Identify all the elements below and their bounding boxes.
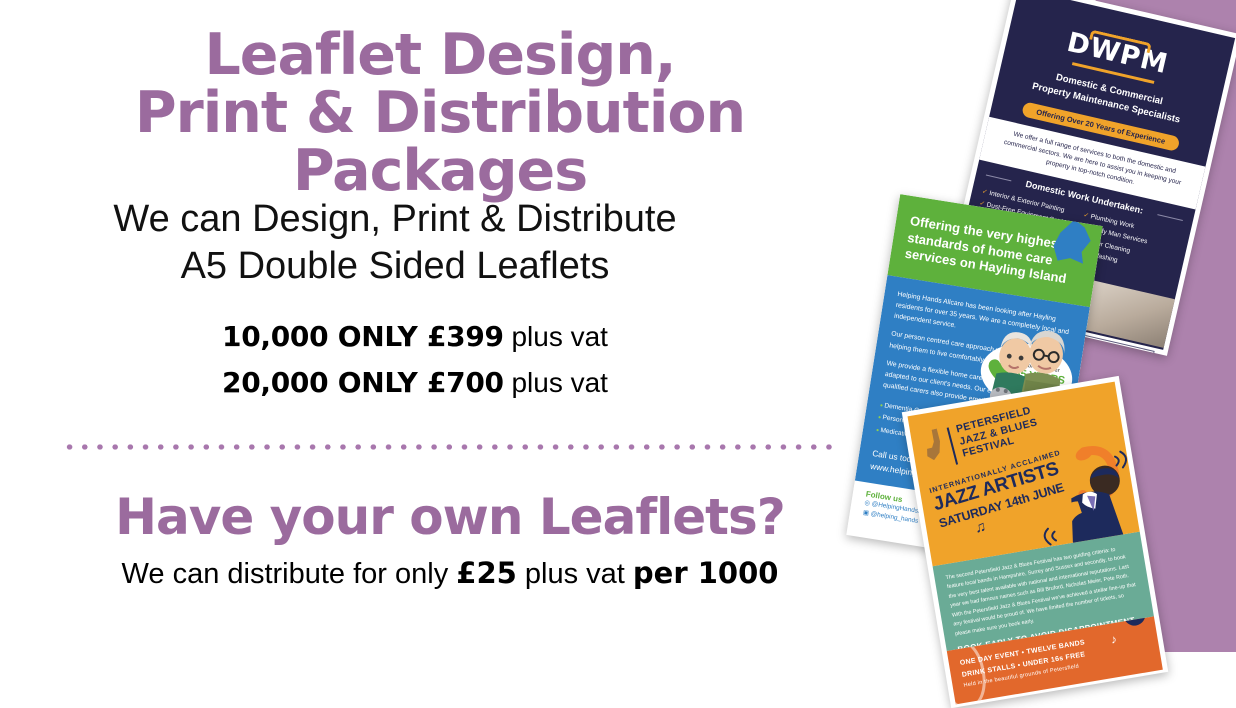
price-row-20000: 20,000 ONLY £700 plus vat	[0, 366, 830, 399]
hh-header-text: Offering the very highest standards of h…	[904, 213, 1068, 286]
title-line-1: Leaflet Design,	[204, 22, 675, 88]
saxophone-icon	[920, 428, 947, 462]
cta-per-1000: per 1000	[633, 556, 779, 590]
promo-text-column: Leaflet Design, Print & Distribution Pac…	[0, 0, 900, 652]
price-10000-vat: plus vat	[504, 321, 608, 352]
cta-price: £25	[456, 556, 517, 590]
leaflet-jazz-festival: PETERSFIELD JAZZ & BLUES FESTIVAL INTERN…	[902, 376, 1168, 708]
cta-prefix: We can distribute for only	[122, 558, 457, 590]
subtitle: We can Design, Print & Distribute A5 Dou…	[0, 196, 790, 290]
cta-subtitle: We can distribute for only £25 plus vat …	[0, 556, 900, 591]
dotted-divider	[62, 443, 840, 451]
title-line-2: Print & Distribution Packages	[0, 84, 880, 200]
price-20000-amount: 20,000 ONLY £700	[222, 366, 504, 399]
page-title: Leaflet Design, Print & Distribution Pac…	[0, 26, 880, 200]
price-20000-vat: plus vat	[504, 367, 608, 398]
price-row-10000: 10,000 ONLY £399 plus vat	[0, 320, 830, 353]
price-10000-amount: 10,000 ONLY £399	[222, 320, 504, 353]
cta-title: Have your own Leaflets?	[0, 492, 900, 543]
subtitle-line-1: We can Design, Print & Distribute	[113, 198, 676, 240]
cta-middle: plus vat	[517, 558, 633, 590]
island-icon	[1049, 217, 1095, 267]
music-note-icon: ♫	[974, 518, 988, 537]
subtitle-line-2: A5 Double Sided Leaflets	[0, 243, 790, 290]
